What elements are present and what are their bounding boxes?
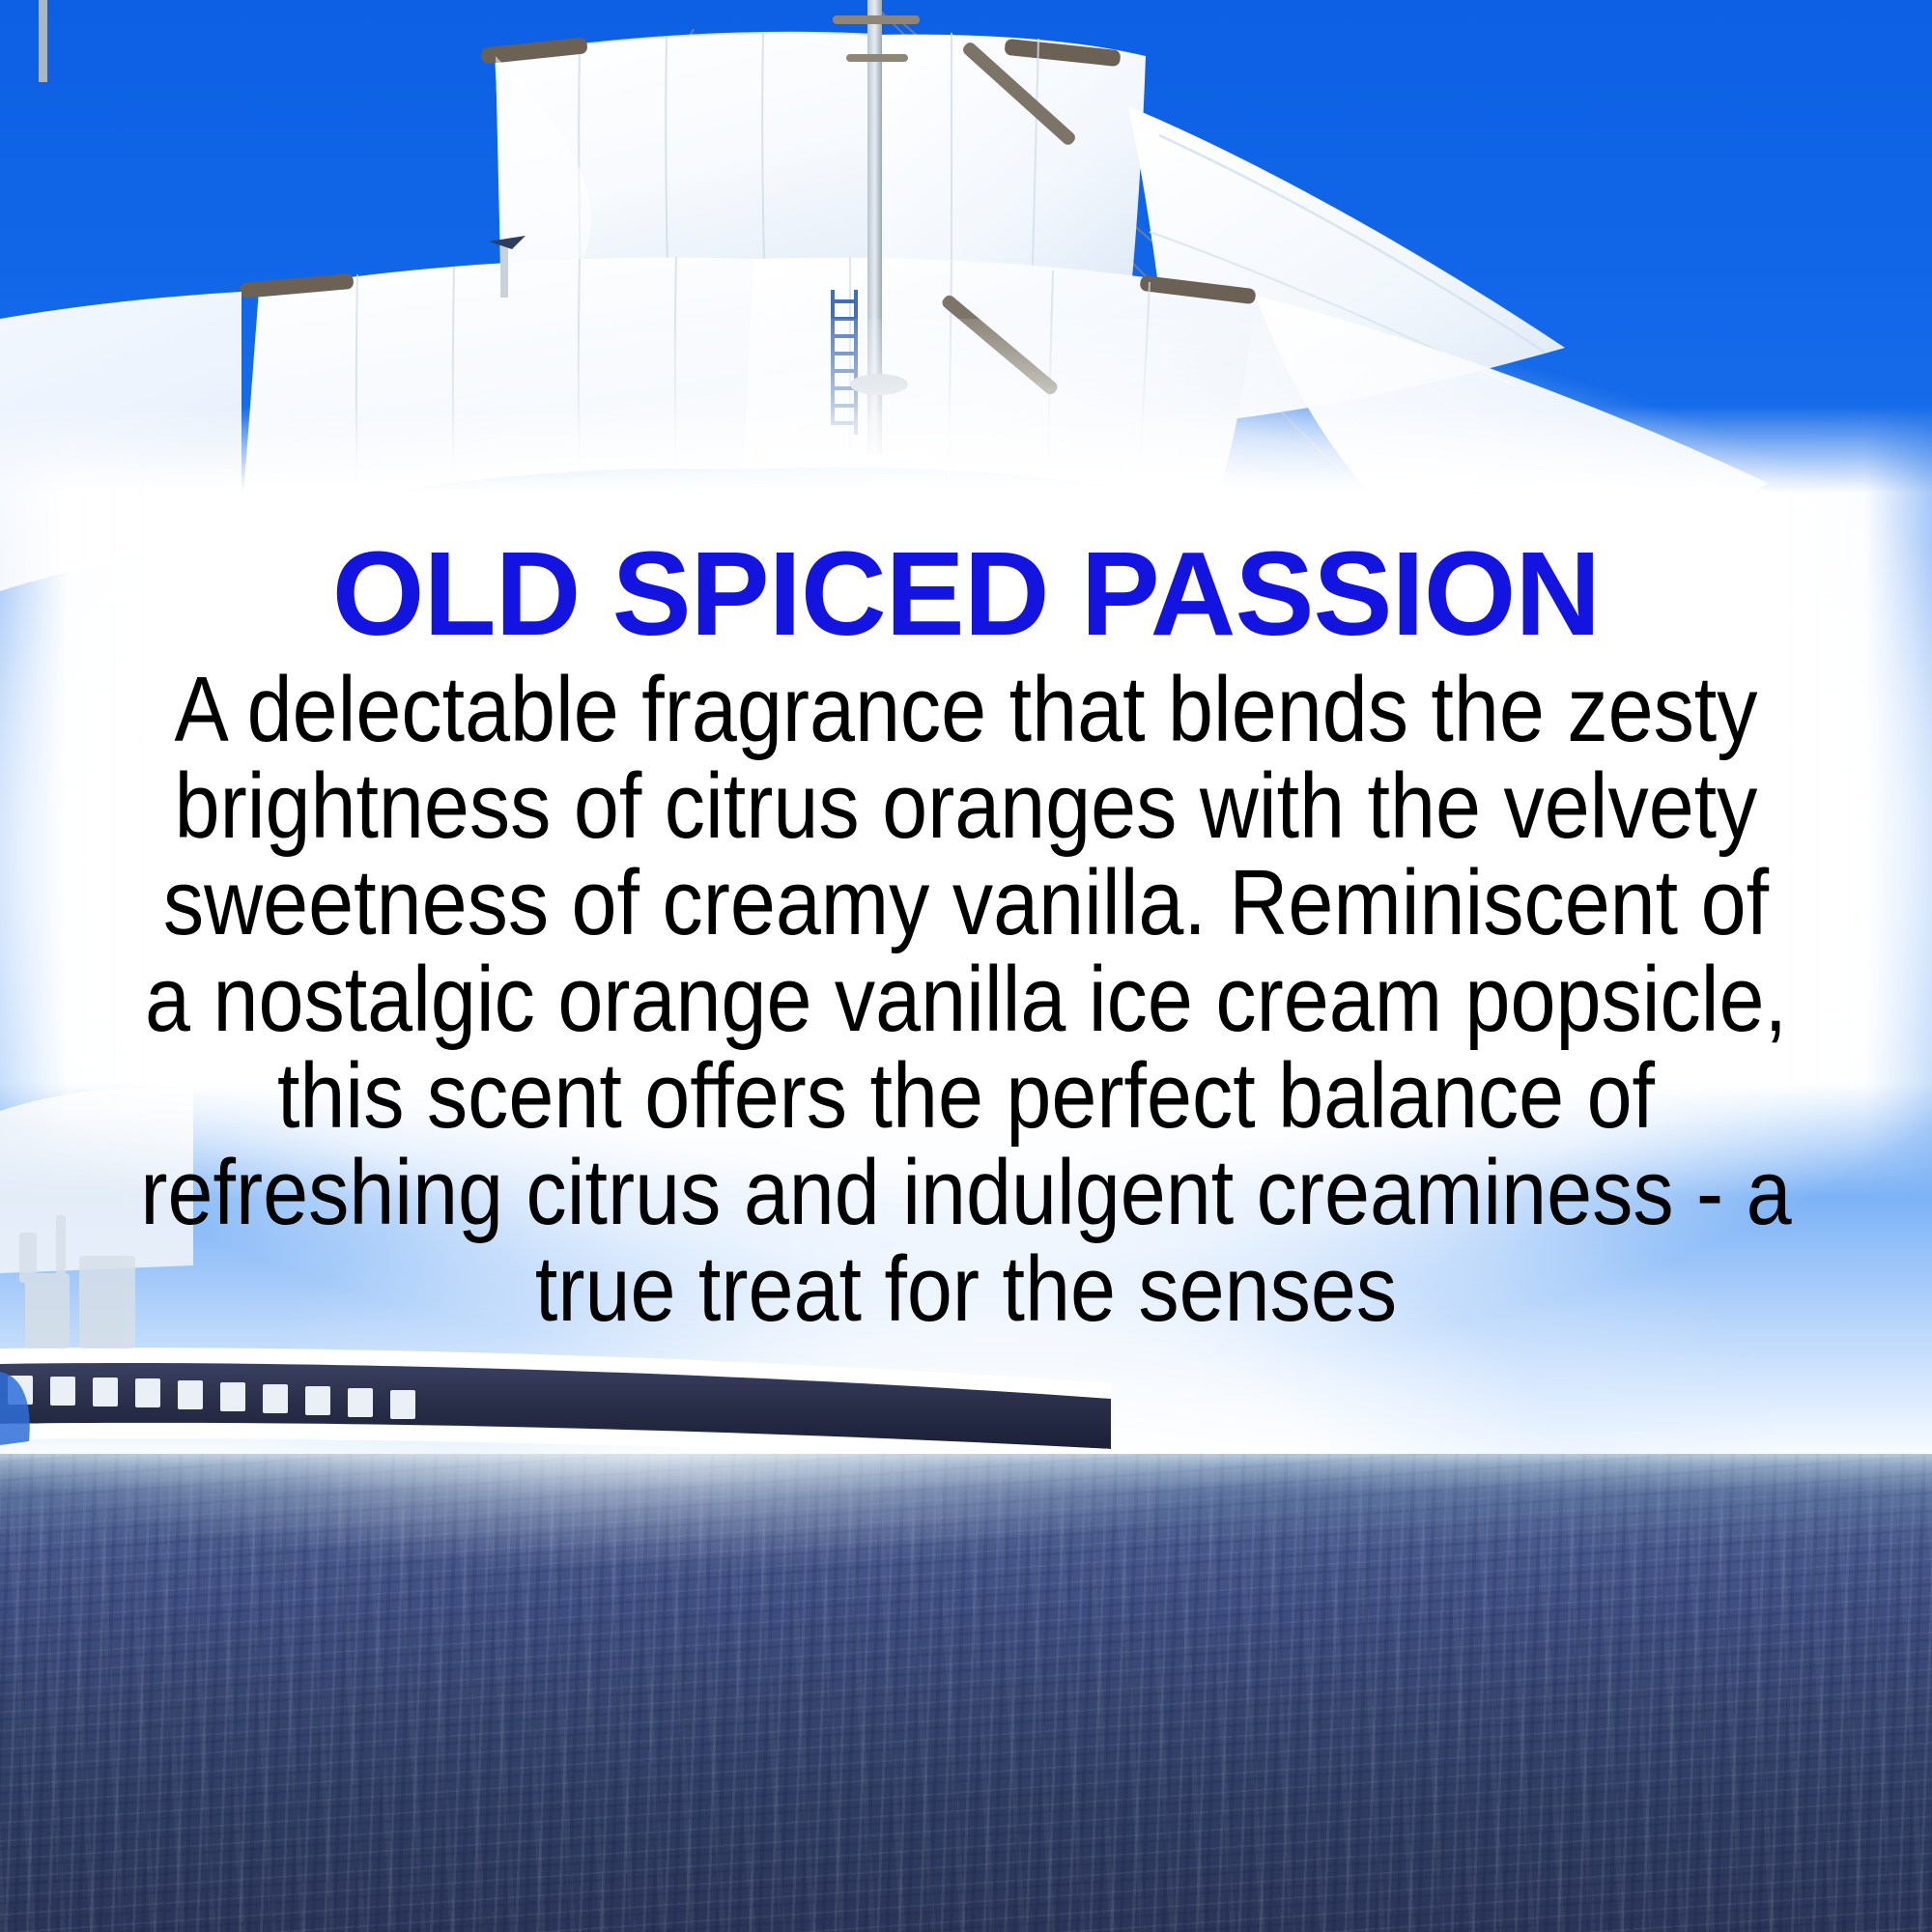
left-edge-sail: [0, 292, 241, 591]
lower-main-sails: [240, 257, 1768, 604]
ship-hull: [0, 1088, 1111, 1463]
mizzen-mast-tip: [39, 0, 47, 82]
ocean-horizon-glare: [0, 1454, 1932, 1647]
poster-canvas: OLD SPICED PASSION A delectable fragranc…: [0, 0, 1932, 1932]
ocean-background: [0, 1454, 1932, 1932]
